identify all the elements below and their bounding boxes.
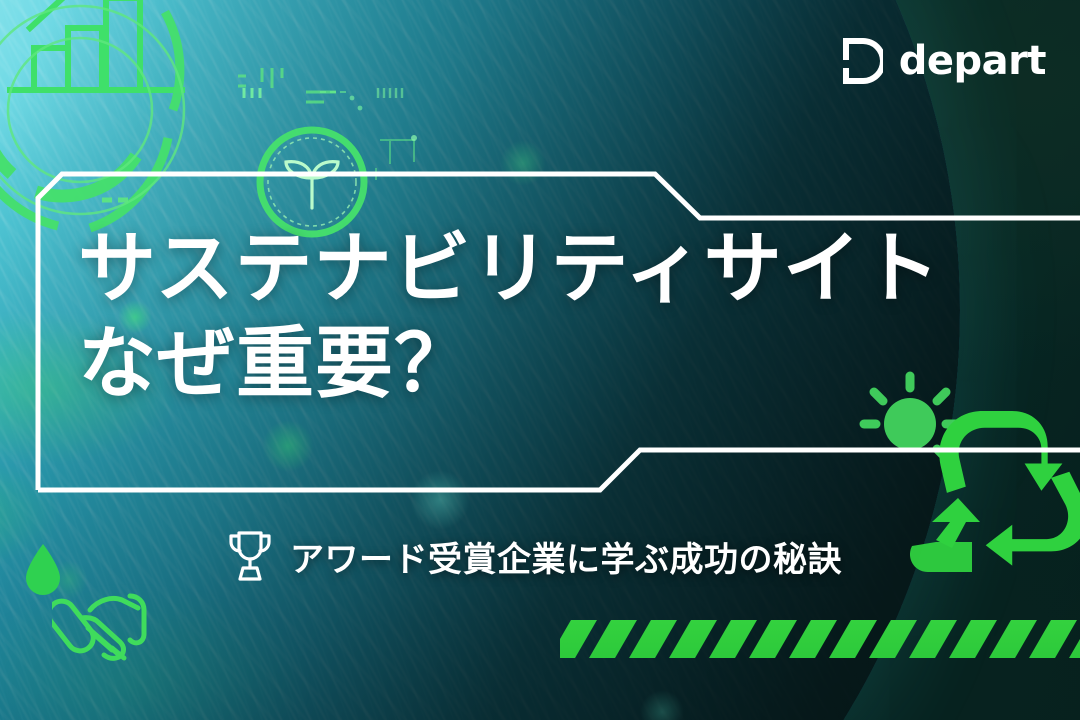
title-line-2: なぜ重要？: [78, 317, 1038, 412]
title-line-1: サステナビリティサイト: [78, 222, 1038, 317]
brand-logo[interactable]: depart: [839, 36, 1046, 86]
subtitle-row: アワード受賞企業に学ぶ成功の秘訣: [226, 528, 842, 584]
page-title: サステナビリティサイト なぜ重要？: [78, 222, 1038, 412]
brand-name: depart: [899, 41, 1046, 81]
depart-d-mark-icon: [839, 36, 883, 86]
subtitle-text: アワード受賞企業に学ぶ成功の秘訣: [290, 532, 842, 581]
banner-canvas: depart サステナビリティサイト なぜ重要？ アワード受賞企業に学ぶ成功の秘…: [0, 0, 1080, 720]
trophy-icon: [226, 528, 274, 584]
hazard-stripes: [560, 620, 1080, 658]
